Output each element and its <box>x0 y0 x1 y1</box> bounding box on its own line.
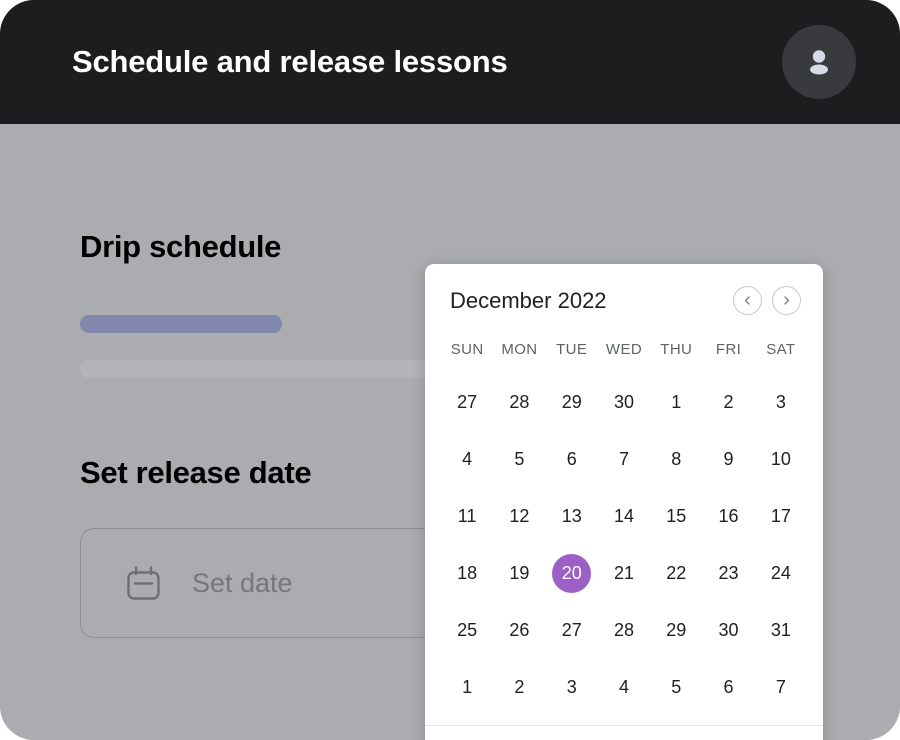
set-date-input[interactable]: Set date <box>80 528 480 638</box>
app-root: Schedule and release lessons Drip schedu… <box>0 0 900 740</box>
day-cell[interactable]: 3 <box>546 664 598 711</box>
day-label: 28 <box>604 611 643 650</box>
day-cell[interactable]: 17 <box>755 493 807 540</box>
day-cell[interactable]: 18 <box>441 550 493 597</box>
day-cell[interactable]: 10 <box>755 436 807 483</box>
week-row: 25 26 27 28 29 30 31 <box>425 607 823 654</box>
person-icon <box>801 44 837 80</box>
day-label: 30 <box>709 611 748 650</box>
day-label: 3 <box>761 383 800 422</box>
day-label: 13 <box>552 497 591 536</box>
day-cell[interactable]: 2 <box>702 379 754 426</box>
day-label: 7 <box>604 440 643 479</box>
chevron-right-icon <box>780 294 793 307</box>
calendar-nav-group <box>733 286 801 315</box>
day-label: 6 <box>552 440 591 479</box>
day-cell[interactable]: 1 <box>650 379 702 426</box>
day-label: 15 <box>657 497 696 536</box>
calendar-header: December 2022 <box>425 264 823 315</box>
day-label: 12 <box>500 497 539 536</box>
day-label: 19 <box>500 554 539 593</box>
day-cell[interactable]: 5 <box>650 664 702 711</box>
day-cell[interactable]: 30 <box>598 379 650 426</box>
day-label: 18 <box>448 554 487 593</box>
day-cell[interactable]: 14 <box>598 493 650 540</box>
next-month-button[interactable] <box>772 286 801 315</box>
app-card: Schedule and release lessons Drip schedu… <box>0 0 900 740</box>
day-cell[interactable]: 2 <box>493 664 545 711</box>
day-cell[interactable]: 13 <box>546 493 598 540</box>
day-cell[interactable]: 4 <box>598 664 650 711</box>
day-cell[interactable]: 27 <box>441 379 493 426</box>
day-cell[interactable]: 28 <box>598 607 650 654</box>
day-cell[interactable]: 23 <box>702 550 754 597</box>
dow-wed: WED <box>598 341 650 358</box>
day-label: 1 <box>657 383 696 422</box>
calendar-popup: December 2022 <box>425 264 823 740</box>
week-row: 27 28 29 30 1 2 3 <box>425 379 823 426</box>
day-cell[interactable]: 29 <box>546 379 598 426</box>
day-cell[interactable]: 16 <box>702 493 754 540</box>
day-cell[interactable]: 22 <box>650 550 702 597</box>
day-label: 27 <box>552 611 591 650</box>
day-cell[interactable]: 27 <box>546 607 598 654</box>
set-date-placeholder: Set date <box>192 568 293 599</box>
page-title: Schedule and release lessons <box>72 44 508 80</box>
day-cell[interactable]: 3 <box>755 379 807 426</box>
day-label: 6 <box>709 668 748 707</box>
day-label: 3 <box>552 668 591 707</box>
week-row: 11 12 13 14 15 16 17 <box>425 493 823 540</box>
day-label: 30 <box>604 383 643 422</box>
day-cell[interactable]: 9 <box>702 436 754 483</box>
day-label: 26 <box>500 611 539 650</box>
day-label: 2 <box>709 383 748 422</box>
day-label: 17 <box>761 497 800 536</box>
day-label: 21 <box>604 554 643 593</box>
day-cell[interactable]: 6 <box>702 664 754 711</box>
dow-sun: SUN <box>441 341 493 358</box>
day-cell[interactable]: 4 <box>441 436 493 483</box>
day-label: 16 <box>709 497 748 536</box>
day-cell[interactable]: 19 <box>493 550 545 597</box>
day-cell[interactable]: 28 <box>493 379 545 426</box>
day-label: 10 <box>761 440 800 479</box>
day-label: 1 <box>448 668 487 707</box>
day-label: 24 <box>761 554 800 593</box>
day-cell[interactable]: 12 <box>493 493 545 540</box>
prev-month-button[interactable] <box>733 286 762 315</box>
day-label: 28 <box>500 383 539 422</box>
day-cell[interactable]: 29 <box>650 607 702 654</box>
dow-fri: FRI <box>702 341 754 358</box>
day-label: 27 <box>448 383 487 422</box>
week-row: 1 2 3 4 5 6 7 <box>425 664 823 711</box>
dow-thu: THU <box>650 341 702 358</box>
day-label: 4 <box>604 668 643 707</box>
day-cell[interactable]: 7 <box>755 664 807 711</box>
placeholder-bar-secondary <box>80 360 480 378</box>
chevron-left-icon <box>741 294 754 307</box>
day-of-week-header: SUN MON TUE WED THU FRI SAT <box>425 341 823 358</box>
day-cell[interactable]: 31 <box>755 607 807 654</box>
day-cell[interactable]: 1 <box>441 664 493 711</box>
placeholder-bar-primary <box>80 315 282 333</box>
day-label: 2 <box>500 668 539 707</box>
day-cell-selected[interactable]: 20 <box>546 550 598 597</box>
day-cell[interactable]: 15 <box>650 493 702 540</box>
day-label: 9 <box>709 440 748 479</box>
week-row: 4 5 6 7 8 9 10 <box>425 436 823 483</box>
day-cell[interactable]: 26 <box>493 607 545 654</box>
dow-mon: MON <box>493 341 545 358</box>
week-row: 18 19 20 21 22 23 24 <box>425 550 823 597</box>
day-label: 5 <box>657 668 696 707</box>
day-label: 11 <box>448 497 487 536</box>
dow-tue: TUE <box>546 341 598 358</box>
day-label: 4 <box>448 440 487 479</box>
today-row: Today <box>425 726 823 740</box>
dow-sat: SAT <box>755 341 807 358</box>
app-header: Schedule and release lessons <box>0 0 900 124</box>
calendar-grid: 27 28 29 30 1 2 3 4 5 6 7 8 9 <box>425 379 823 711</box>
day-cell[interactable]: 30 <box>702 607 754 654</box>
day-cell[interactable]: 25 <box>441 607 493 654</box>
day-cell[interactable]: 5 <box>493 436 545 483</box>
day-label-selected: 20 <box>552 554 591 593</box>
day-cell[interactable]: 6 <box>546 436 598 483</box>
day-cell[interactable]: 21 <box>598 550 650 597</box>
day-cell[interactable]: 7 <box>598 436 650 483</box>
day-label: 25 <box>448 611 487 650</box>
day-label: 29 <box>657 611 696 650</box>
day-label: 5 <box>500 440 539 479</box>
app-body: Drip schedule Set release date Set date <box>0 124 900 740</box>
day-label: 14 <box>604 497 643 536</box>
day-label: 8 <box>657 440 696 479</box>
day-cell[interactable]: 11 <box>441 493 493 540</box>
day-cell[interactable]: 24 <box>755 550 807 597</box>
drip-schedule-heading: Drip schedule <box>80 229 500 265</box>
day-cell[interactable]: 8 <box>650 436 702 483</box>
day-label: 31 <box>761 611 800 650</box>
day-label: 22 <box>657 554 696 593</box>
calendar-icon <box>123 563 164 604</box>
day-label: 23 <box>709 554 748 593</box>
avatar[interactable] <box>782 25 856 99</box>
day-label: 29 <box>552 383 591 422</box>
calendar-month-label: December 2022 <box>450 288 607 314</box>
day-label: 7 <box>761 668 800 707</box>
